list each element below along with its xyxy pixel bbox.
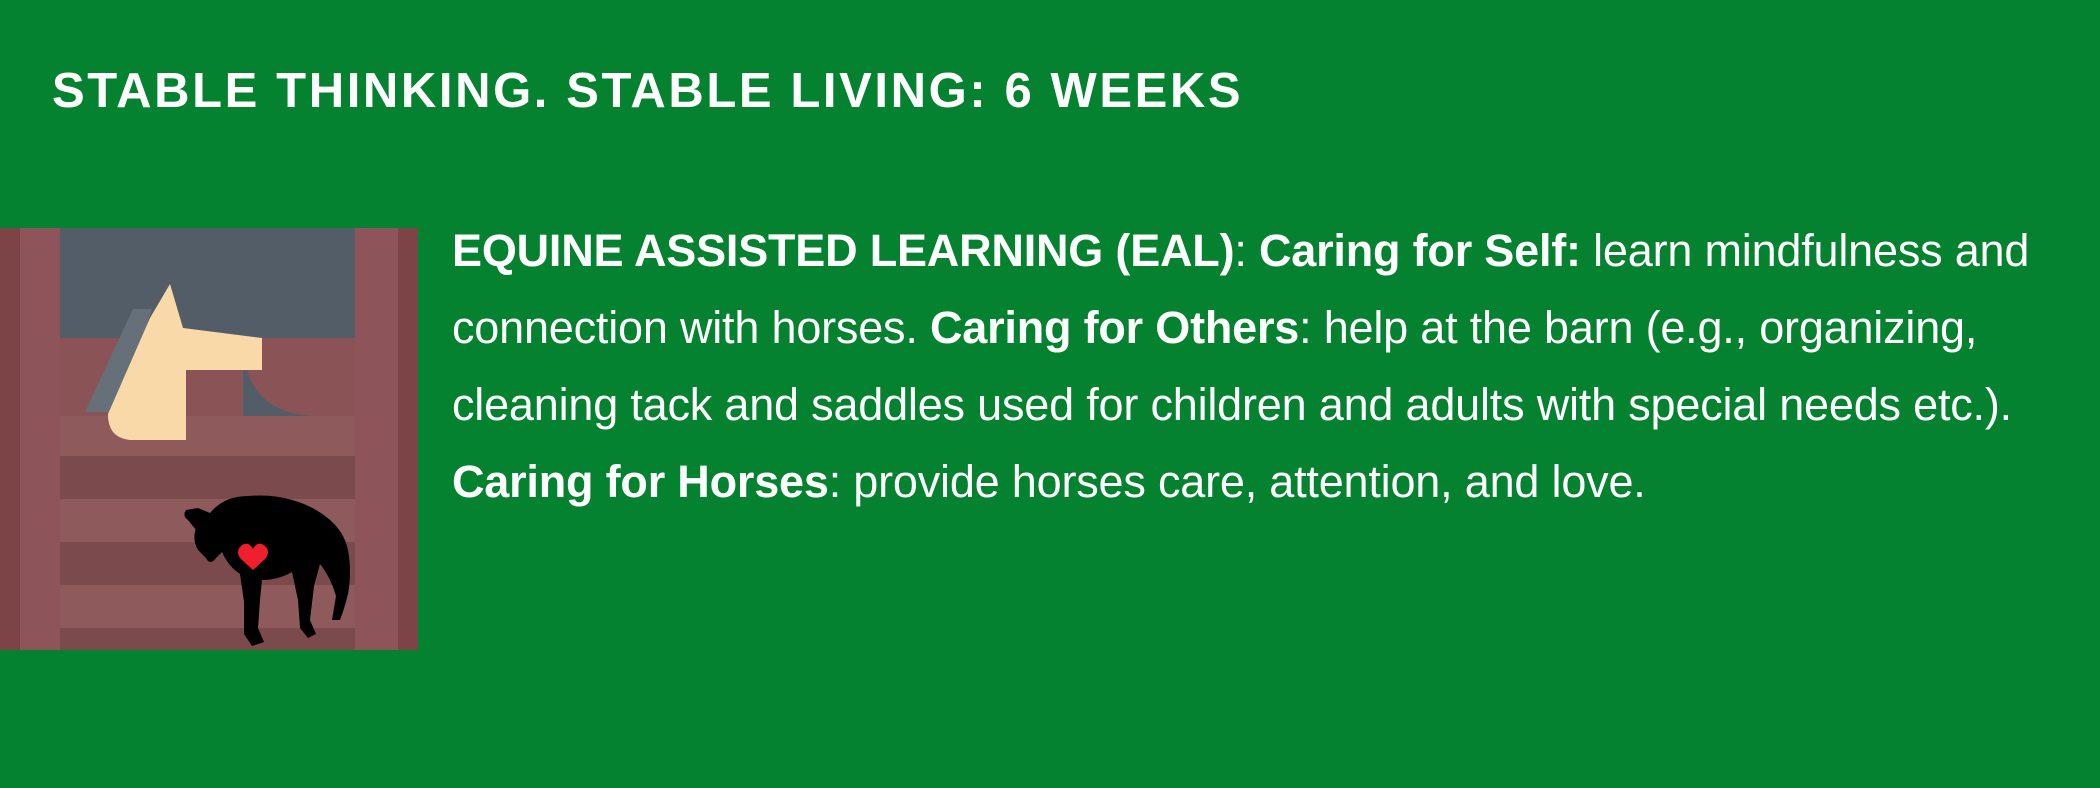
page-title: STABLE THINKING. STABLE LIVING: 6 WEEKS — [52, 60, 2032, 122]
body-emphasis: EQUINE ASSISTED LEARNING (EAL) — [452, 225, 1234, 276]
stall-scene-svg — [0, 228, 418, 650]
body-text: : provide horses care, attention, and lo… — [829, 456, 1646, 507]
horse-stall-illustration — [0, 228, 418, 650]
stall-post-outer-left — [0, 228, 20, 650]
body-emphasis: Caring for Self: — [1259, 225, 1581, 276]
stall-post-right — [355, 228, 398, 650]
stall-post-outer-right — [398, 228, 418, 650]
slide-canvas: STABLE THINKING. STABLE LIVING: 6 WEEKS — [0, 0, 2100, 788]
body-emphasis: Caring for Horses — [452, 456, 829, 507]
stall-post-left — [20, 228, 60, 650]
body-emphasis: Caring for Others — [930, 302, 1299, 353]
body-text: : — [1234, 225, 1259, 276]
body-paragraph: EQUINE ASSISTED LEARNING (EAL): Caring f… — [452, 212, 2077, 520]
